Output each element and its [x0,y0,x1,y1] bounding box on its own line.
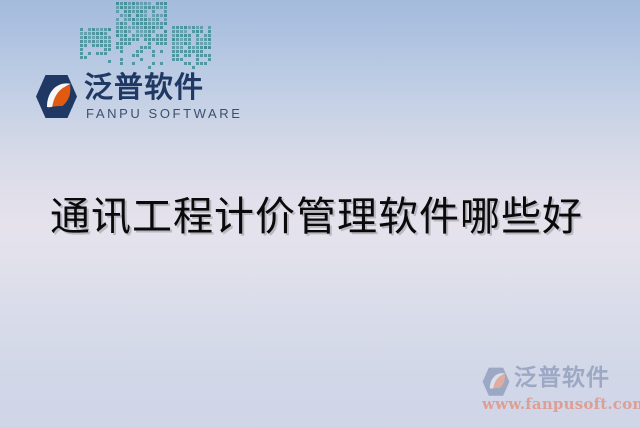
promo-banner: 泛普软件 FANPU SOFTWARE 通讯工程计价管理软件哪些好 泛普软件 w… [0,0,640,427]
brand-logo: 泛普软件 FANPU SOFTWARE [32,70,212,130]
fanpu-watermark-icon [480,367,510,397]
watermark-brand-name: 泛普软件 [514,365,610,392]
brand-name-en: FANPU SOFTWARE [86,106,243,121]
watermark: 泛普软件 www.fanpusoft.com [480,365,630,415]
brand-name-cn: 泛普软件 [84,71,204,104]
page-title: 通讯工程计价管理软件哪些好 [50,194,583,240]
watermark-url: www.fanpusoft.com [482,395,640,413]
fanpu-hexagon-swoosh-icon [32,74,78,120]
